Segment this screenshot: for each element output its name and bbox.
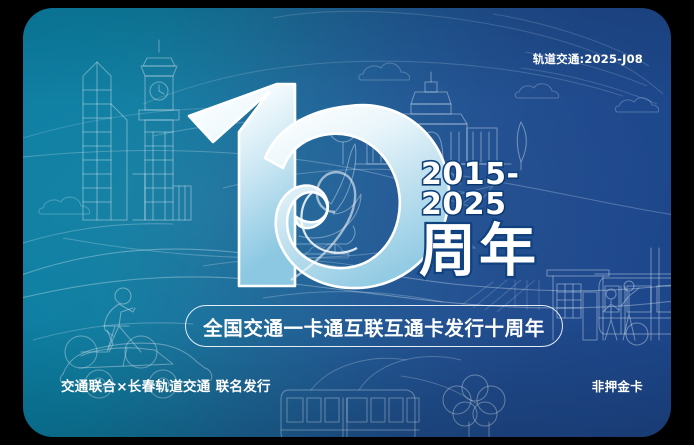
skyscraper-outline xyxy=(83,62,127,220)
anniversary-banner: 全国交通一卡通互联互通卡发行十周年 xyxy=(185,305,563,347)
zero-tail-swoosh xyxy=(291,172,355,280)
card-shading-overlay xyxy=(23,8,671,437)
card-code-label: 轨道交通:2025-J08 xyxy=(533,51,643,67)
card-image-root: 2015-2025 周年 全国交通一卡通互联互通卡发行十周年 轨道交通:2025… xyxy=(0,0,694,445)
transit-card: 2015-2025 周年 全国交通一卡通互联互通卡发行十周年 轨道交通:2025… xyxy=(23,8,671,437)
cloud-outline xyxy=(39,63,659,258)
bus-outline xyxy=(595,274,671,345)
digit-zero-swirl xyxy=(265,105,449,288)
arrow-swoosh xyxy=(23,151,493,259)
banner-title-text: 全国交通一卡通互联互通卡发行十周年 xyxy=(203,312,545,341)
cyclist-outline xyxy=(65,288,157,368)
card-issuer-label: 交通联合×长春轨道交通 联名发行 xyxy=(61,375,271,395)
anniversary-block: 2015-2025 周年 xyxy=(419,160,579,280)
deer-sculpture-outline xyxy=(253,144,361,254)
card-line-artwork xyxy=(23,8,671,437)
horizon-hills xyxy=(23,119,671,308)
tree-outline xyxy=(435,375,545,437)
big-number-10 xyxy=(173,80,453,320)
abstract-swoosh-lines xyxy=(23,11,663,138)
clock-tower-outline xyxy=(133,40,191,220)
digit-one xyxy=(189,84,295,286)
classical-building-outline xyxy=(329,72,526,170)
year-range-text: 2015-2025 xyxy=(421,160,579,220)
tram-outline xyxy=(221,357,581,437)
card-deposit-type-label: 非押金卡 xyxy=(592,376,643,395)
bus-stop-outline xyxy=(547,248,659,340)
anniversary-word-text: 周年 xyxy=(419,222,579,280)
